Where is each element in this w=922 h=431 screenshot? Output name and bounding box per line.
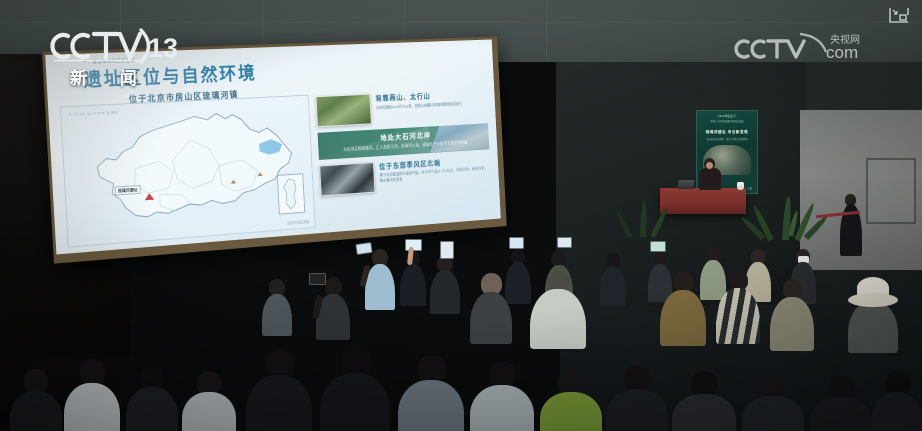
audience-member bbox=[600, 253, 626, 305]
audience-member-striped bbox=[716, 271, 760, 343]
audience-member bbox=[742, 373, 804, 431]
audience-member bbox=[365, 249, 395, 309]
map-credit: 北京市行政区划图 bbox=[287, 219, 309, 225]
audience-member bbox=[316, 277, 350, 339]
audience-member bbox=[320, 345, 390, 431]
site-marker-label: 琉璃河遗址 bbox=[115, 185, 141, 196]
audience-member-foreground bbox=[470, 273, 512, 343]
picture-in-picture-icon[interactable] bbox=[888, 6, 910, 24]
map-marker-secondary bbox=[231, 180, 237, 184]
presenter-table bbox=[660, 188, 746, 214]
mountain-photo-thumb bbox=[316, 94, 372, 127]
audience-member bbox=[398, 355, 464, 431]
audience-member bbox=[182, 371, 236, 431]
audience-member bbox=[660, 271, 706, 345]
banner-second-line: 北京市考古研究院 · 北京大学考古文博学院 bbox=[697, 137, 757, 141]
cctv-com-watermark-icon: com 央视网 bbox=[730, 30, 900, 64]
audience-member bbox=[126, 365, 178, 431]
info-block-climate: 位于东部季风区北端 属于北方暖温带半湿润气候，年平均气温11.7℃左右，四季分明… bbox=[319, 154, 491, 196]
audience-member bbox=[430, 255, 460, 313]
pip-glyph bbox=[888, 6, 910, 24]
banner-top-line: 2024年度北京 bbox=[697, 111, 757, 118]
beijing-map-outline bbox=[75, 106, 300, 234]
audience-member bbox=[810, 375, 872, 431]
liulihe-site-marker: 琉璃河遗址 bbox=[145, 193, 155, 200]
map-inset bbox=[277, 173, 305, 214]
banner-sub-line: 全国十大考古新发现 终评会汇报会 bbox=[697, 119, 757, 123]
map-marker-secondary-2 bbox=[257, 172, 263, 176]
audience-member bbox=[770, 279, 814, 349]
slide-body: 0 10 20 30 40km 比例尺 琉璃 bbox=[60, 86, 493, 247]
audience-member bbox=[540, 369, 602, 431]
audience-member bbox=[872, 371, 922, 431]
audience-member bbox=[64, 359, 120, 431]
wall-frame-panel bbox=[866, 158, 916, 224]
info-block-river: 地处大石河北岸 大石河又称琉璃河，汇入北拒马河，自海河入海，遗址位于大石河下游洪… bbox=[318, 123, 490, 159]
audience-member-white-hat bbox=[848, 275, 898, 351]
audience-member-hoodie bbox=[530, 271, 586, 349]
svg-text:13: 13 bbox=[148, 33, 178, 63]
cctv-com-watermark: com 央视网 bbox=[730, 30, 900, 64]
audience-member bbox=[470, 361, 534, 431]
presenter-figure bbox=[699, 158, 721, 190]
audience-crowd bbox=[0, 231, 922, 431]
channel-name-label: 新 闻 bbox=[70, 64, 151, 89]
water-cup bbox=[737, 182, 744, 190]
audience-member bbox=[606, 365, 668, 431]
audience-member bbox=[672, 371, 736, 431]
audience-member bbox=[10, 369, 62, 431]
broadcast-frame: 一、遗址格局和历史沿革 遗址区位与自然环境 位于北京市房山区琉璃河镇 0 10 … bbox=[0, 0, 922, 431]
audience-member bbox=[246, 349, 312, 431]
audience-member bbox=[262, 279, 292, 335]
audience-member bbox=[400, 251, 426, 305]
winter-photo-thumb bbox=[319, 162, 375, 196]
map-inset-outline bbox=[278, 174, 305, 213]
slide-info-column: 背靠燕山、太行山 分布范围约5.25平方公里，是燕山南麓冲积扇的重要组成部分 地… bbox=[315, 86, 492, 227]
laptop bbox=[677, 180, 694, 189]
site-marker-triangle bbox=[145, 193, 155, 200]
beijing-map-panel: 0 10 20 30 40km 比例尺 琉璃 bbox=[60, 95, 316, 248]
banner-title: 琉璃河遗址 考古新发现 bbox=[697, 130, 757, 135]
info-block-mountain: 背靠燕山、太行山 分布范围约5.25平方公里，是燕山南麓冲积扇的重要组成部分 bbox=[316, 88, 488, 127]
svg-text:央视网: 央视网 bbox=[830, 33, 860, 46]
